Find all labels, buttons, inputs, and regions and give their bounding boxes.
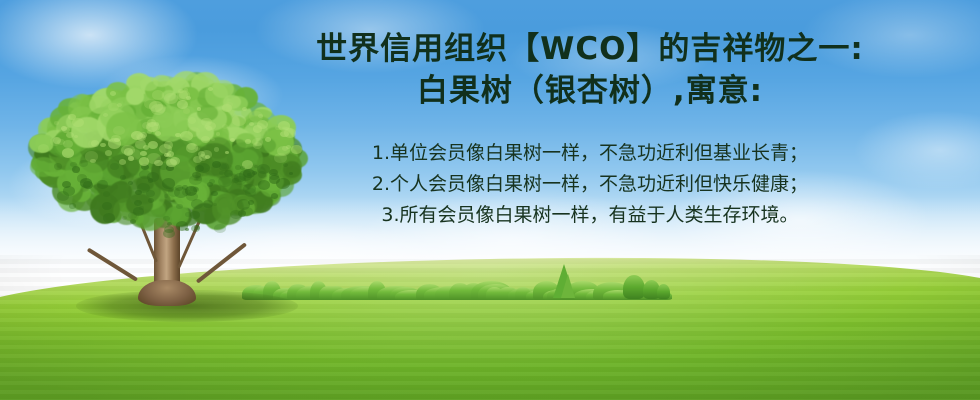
tree-foliage-speck — [139, 157, 149, 165]
tree-foliage — [76, 94, 90, 107]
tree-foliage-speck — [62, 127, 70, 133]
tree-foliage-speck — [97, 180, 107, 188]
tree-foliage-speck — [102, 202, 112, 210]
page-title: 世界信用组织【WCO】的吉祥物之一: 白果树（银杏树）,寓意: — [240, 28, 940, 112]
tree-foliage-speck — [110, 91, 116, 96]
tree-foliage-speck — [197, 163, 210, 173]
tree-foliage-speck — [177, 100, 188, 109]
tree-foliage-speck — [54, 121, 58, 124]
tree-foliage-speck — [188, 117, 196, 123]
tree-foliage-speck — [154, 160, 162, 167]
meaning-list: 1.单位会员像白果树一样，不急功近利但基业长青； 2.个人会员像白果树一样，不急… — [240, 138, 940, 231]
tree-foliage-speck — [69, 203, 76, 208]
tree-foliage-speck — [148, 178, 153, 182]
tree-foliage-speck — [188, 127, 200, 136]
tree-foliage-speck — [147, 122, 160, 132]
tree-foliage-speck — [103, 213, 116, 223]
tree-foliage-speck — [139, 206, 144, 210]
tree-foliage-speck — [91, 140, 99, 147]
tree-foliage-speck — [170, 157, 180, 165]
tree-foliage-speck — [225, 151, 229, 154]
tree-foliage-speck — [155, 104, 166, 113]
tree-foliage-speck — [103, 191, 110, 197]
conifer-tree — [561, 274, 575, 298]
tree-foliage-speck — [177, 90, 190, 101]
tree-foliage-speck — [54, 163, 63, 170]
tree-foliage-speck — [190, 211, 200, 219]
round-tree — [657, 284, 670, 299]
tree-foliage-speck — [224, 170, 233, 177]
tree-foliage-speck — [113, 126, 125, 136]
tree-foliage-speck — [175, 133, 180, 137]
tree-foliage-speck — [148, 141, 158, 149]
tree-foliage-speck — [62, 148, 74, 158]
wco-mascot-banner: 世界信用组织【WCO】的吉祥物之一: 白果树（银杏树）,寓意: 1.单位会员像白… — [0, 0, 980, 400]
tree-foliage-speck — [203, 200, 213, 208]
tree-foliage-speck — [79, 160, 88, 167]
tree-foliage-speck — [152, 90, 164, 100]
tree-foliage-speck — [63, 140, 73, 148]
tree-foliage-speck — [214, 224, 226, 233]
tree-foliage-speck — [111, 135, 121, 143]
tree-foliage-speck — [253, 125, 263, 133]
tree-foliage-speck — [162, 178, 175, 188]
tree-foliage-speck — [72, 166, 80, 173]
tree-foliage-speck — [53, 137, 61, 143]
tree-foliage-speck — [159, 144, 172, 154]
tree-foliage-speck — [201, 136, 209, 143]
tree-foliage — [126, 88, 143, 105]
tree-foliage-speck — [120, 175, 126, 180]
meaning-item-1: 1.单位会员像白果树一样，不急功近利但基业长青； — [240, 138, 940, 169]
tree-foliage-speck — [211, 138, 215, 141]
tree-foliage-speck — [80, 178, 92, 187]
tree-foliage-speck — [249, 122, 254, 126]
tree-foliage-speck — [119, 159, 126, 165]
tree-foliage-speck — [174, 187, 187, 198]
tree-foliage-speck — [185, 228, 189, 231]
title-line-1: 世界信用组织【WCO】的吉祥物之一: — [240, 28, 940, 70]
tree-foliage-speck — [194, 225, 200, 230]
tree-foliage-speck — [134, 200, 142, 206]
tree-foliage-speck — [232, 115, 246, 126]
tree-foliage-speck — [214, 147, 220, 152]
tree-foliage-speck — [211, 191, 217, 196]
tree-foliage-speck — [62, 181, 71, 188]
tree-branch — [87, 248, 138, 282]
title-line-2: 白果树（银杏树）,寓意: — [240, 70, 940, 112]
round-tree — [623, 275, 645, 299]
meaning-item-2: 2.个人会员像白果树一样，不急功近利但快乐健康； — [240, 169, 940, 200]
meaning-item-3: 3.所有会员像白果树一样，有益于人类生存环境。 — [240, 200, 940, 231]
tree-foliage-speck — [185, 212, 191, 217]
tree-foliage-speck — [72, 118, 83, 127]
tree-foliage-speck — [208, 87, 213, 91]
tree-foliage-speck — [128, 212, 137, 219]
tree-foliage-speck — [193, 187, 199, 192]
tree-foliage-speck — [164, 194, 168, 197]
tree-foliage-speck — [218, 176, 232, 187]
tree-foliage-speck — [216, 132, 220, 135]
tree-foliage-speck — [66, 132, 73, 138]
tree-branch — [196, 242, 247, 283]
tree-foliage-speck — [100, 143, 105, 147]
tree-foliage-speck — [284, 128, 296, 137]
tree-foliage-speck — [105, 150, 112, 156]
